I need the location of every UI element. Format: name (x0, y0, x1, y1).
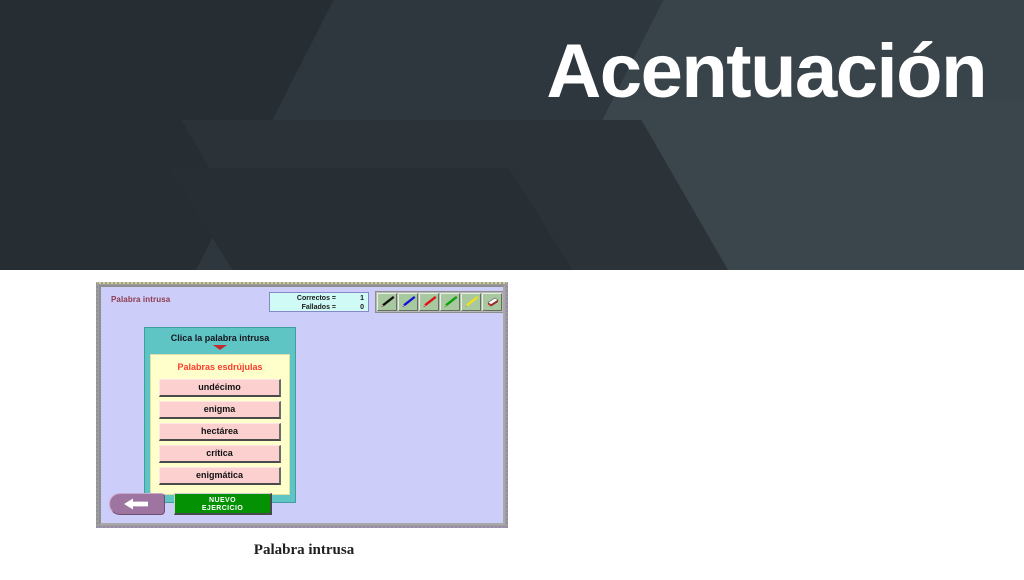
score-panel: Correctos = 1 Fallados = 0 (269, 292, 369, 312)
page-header-banner: Acentuación (0, 0, 1024, 270)
new-exercise-label-line1: NUEVO (175, 497, 270, 505)
app-window-canvas: Palabra intrusa Correctos = 1 Fallados =… (99, 285, 505, 525)
correct-value: 1 (350, 295, 364, 303)
correct-label: Correctos = (297, 295, 336, 303)
score-row-correct: Correctos = 1 (270, 295, 364, 303)
word-option-button[interactable]: hectárea (159, 423, 281, 441)
word-card: Palabras esdrújulas undécimo enigma hect… (150, 354, 290, 495)
question-prompt: Clica la palabra intrusa (150, 333, 290, 344)
word-option-button[interactable]: crítica (159, 445, 281, 463)
pencil-green-icon[interactable] (440, 293, 460, 311)
app-window-frame: Palabra intrusa Correctos = 1 Fallados =… (96, 282, 508, 528)
pencil-red-icon[interactable] (419, 293, 439, 311)
pencil-yellow-icon[interactable] (461, 293, 481, 311)
new-exercise-label-line2: EJERCICIO (175, 505, 270, 513)
pencil-blue-icon[interactable] (398, 293, 418, 311)
score-row-failed: Fallados = 0 (270, 304, 364, 312)
failed-value: 0 (350, 304, 364, 312)
failed-label: Fallados = (302, 304, 336, 312)
activity-title-label: Palabra intrusa (111, 295, 170, 304)
pencil-black-icon[interactable] (377, 293, 397, 311)
word-option-button[interactable]: undécimo (159, 379, 281, 397)
drawing-toolbar[interactable] (375, 291, 504, 313)
question-panel: Clica la palabra intrusa Palabras esdrúj… (144, 327, 296, 503)
application-figure: Palabra intrusa Correctos = 1 Fallados =… (96, 282, 508, 528)
new-exercise-button[interactable]: NUEVO EJERCICIO (174, 493, 272, 515)
word-card-heading: Palabras esdrújulas (159, 362, 281, 372)
word-option-button[interactable]: enigmática (159, 467, 281, 485)
figure-caption: Palabra intrusa (96, 542, 512, 559)
left-arrow-icon (122, 497, 152, 511)
triangle-marker-icon (213, 345, 227, 350)
word-option-button[interactable]: enigma (159, 401, 281, 419)
back-button[interactable] (109, 493, 165, 515)
eraser-icon[interactable] (482, 293, 502, 311)
page-title: Acentuación (546, 20, 986, 124)
